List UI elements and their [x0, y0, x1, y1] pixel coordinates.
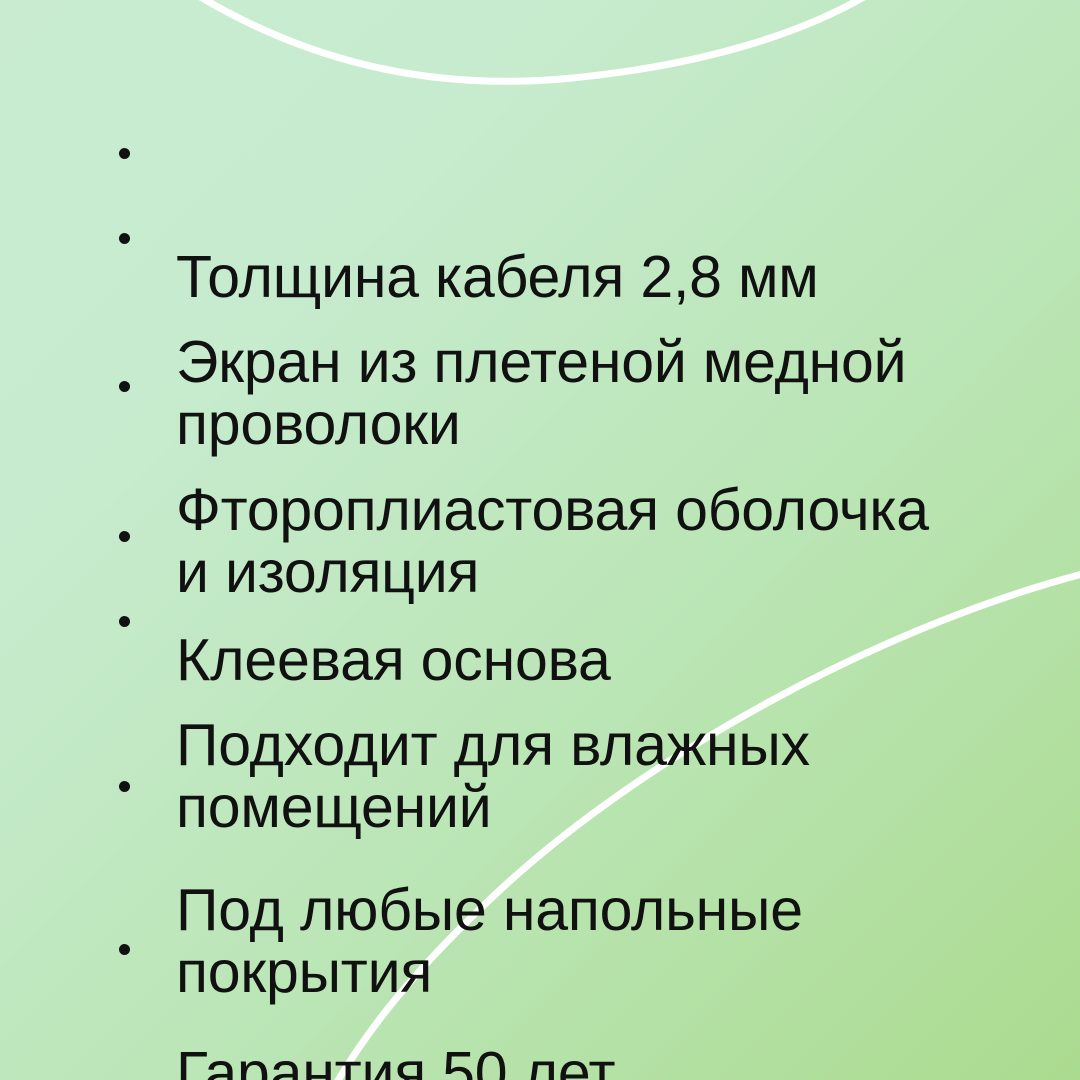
- bullet-icon: [119, 944, 130, 955]
- list-item: Гарантия 50 лет: [0, 918, 1000, 1080]
- bullet-icon: [119, 381, 130, 392]
- bullet-icon: [119, 616, 130, 627]
- bullet-icon: [119, 233, 130, 244]
- promo-slide: Толщина кабеля 2,8 мм Экран из плетеной …: [0, 0, 1080, 1080]
- list-item-label: Гарантия 50 лет: [176, 1042, 1000, 1080]
- bullet-icon: [119, 781, 130, 792]
- top-curved-divider: [176, 0, 888, 81]
- bullet-icon: [119, 531, 130, 542]
- bullet-icon: [119, 148, 130, 159]
